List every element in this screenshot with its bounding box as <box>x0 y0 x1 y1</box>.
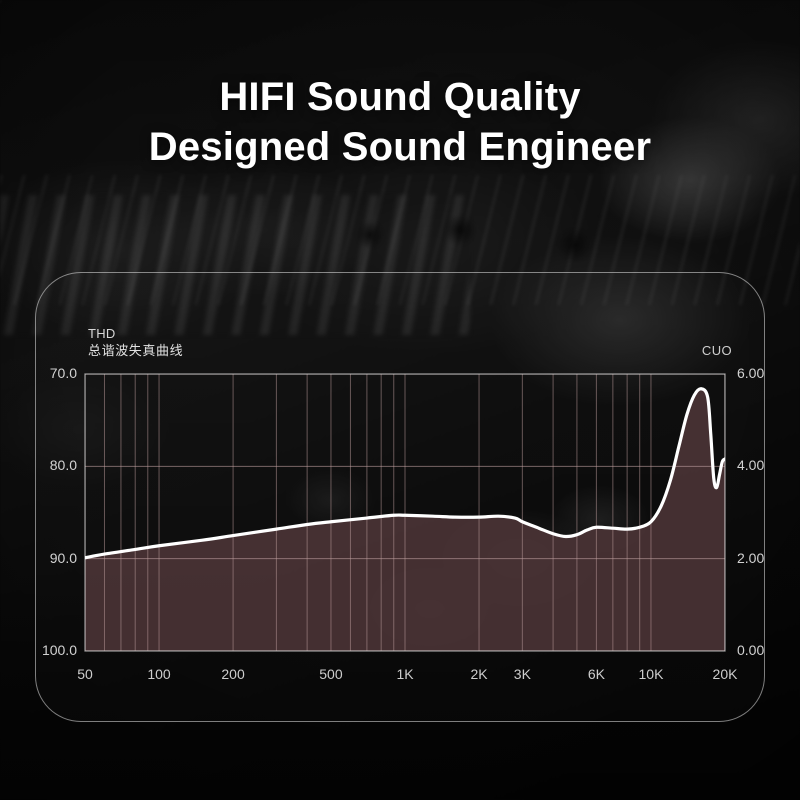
title-line-2: Designed Sound Engineer <box>0 122 800 172</box>
thd-plot <box>36 273 765 722</box>
thd-chart-card: THD 总谐波失真曲线 CUO 100.090.080.070.0 6.004.… <box>35 272 765 722</box>
page-title: HIFI Sound Quality Designed Sound Engine… <box>0 72 800 172</box>
title-line-1: HIFI Sound Quality <box>0 72 800 122</box>
